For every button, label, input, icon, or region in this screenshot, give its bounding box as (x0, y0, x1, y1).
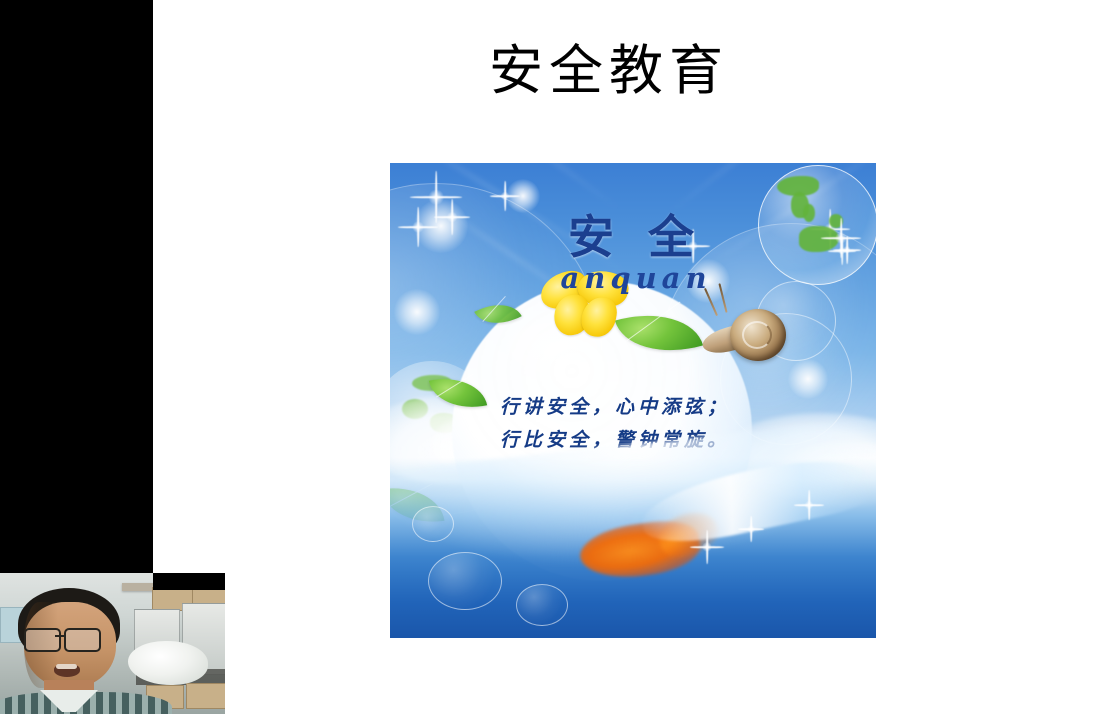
presentation-slide: 安全教育 (0, 0, 1108, 714)
eyeglasses-right-lens (64, 628, 101, 652)
page-title: 安全教育 (0, 40, 1108, 102)
webcam-letterbox-notch (153, 573, 225, 590)
presenter-teeth (56, 664, 77, 669)
eyeglasses-bridge (55, 635, 65, 637)
webcam-box-4 (186, 683, 225, 709)
poster-heading: 安全 (390, 201, 876, 267)
poster-pinyin: anquan (390, 261, 876, 295)
safety-education-poster-image: 安全 anquan 行讲安全，心中添弦； 行比安全，警钟常旋。 (390, 163, 876, 638)
presenter-webcam-video[interactable] (0, 573, 225, 714)
poster-slogan-line-1: 行讲安全，心中添弦； (500, 396, 730, 418)
eyeglasses-left-lens (24, 628, 61, 652)
presenter-person (6, 584, 156, 714)
glow-orb-5 (394, 289, 440, 335)
